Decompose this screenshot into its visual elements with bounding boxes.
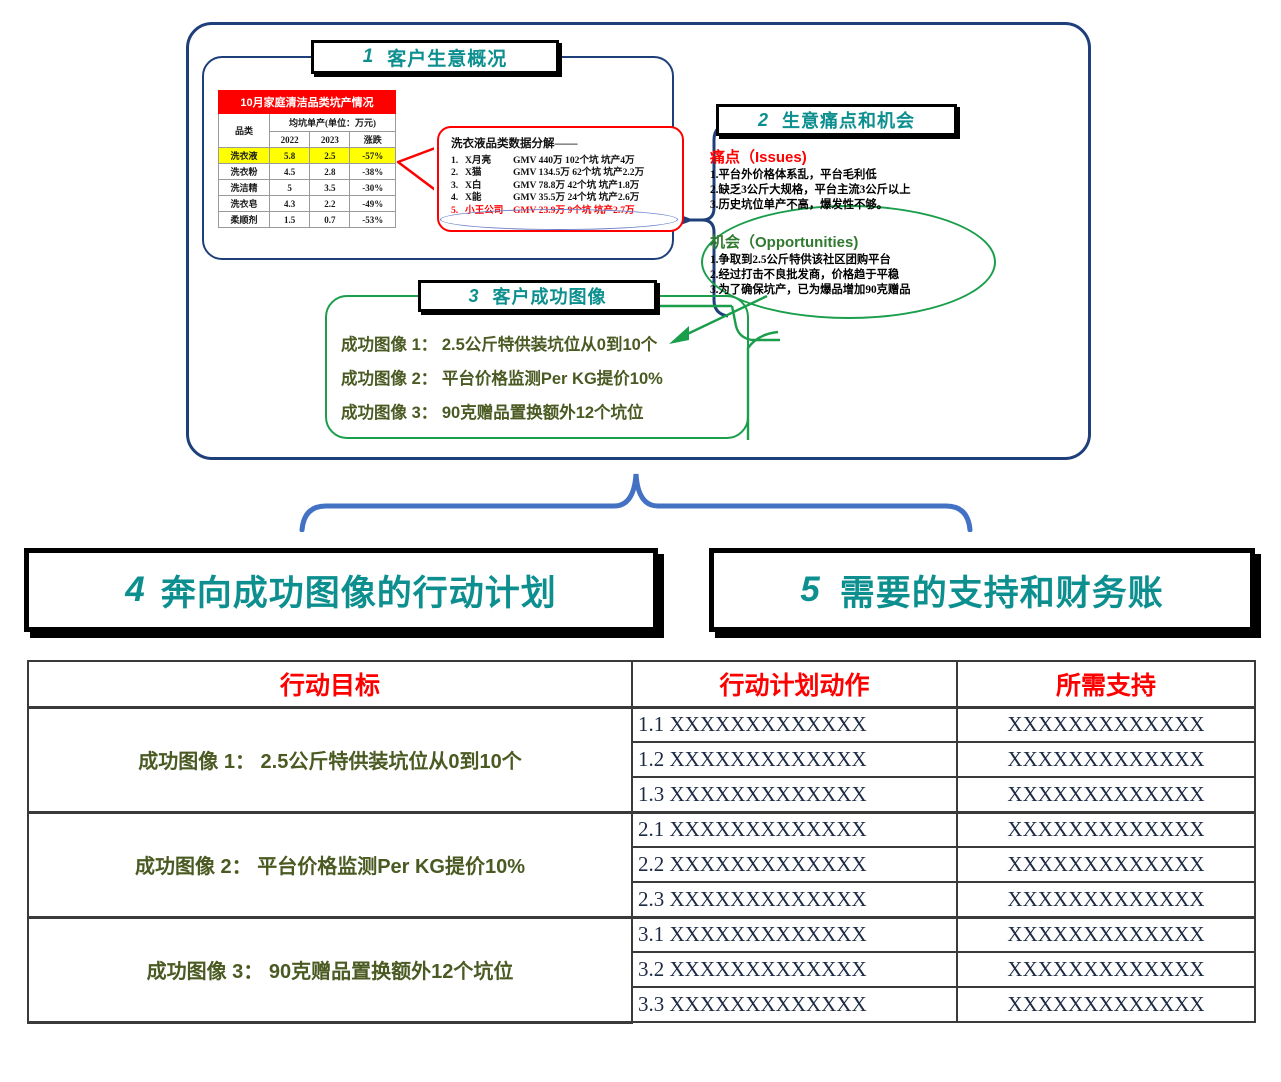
action-cell: 1.2 XXXXXXXXXXXXX xyxy=(632,742,957,777)
item-index: 3. xyxy=(451,180,465,192)
mini-table-category-header: 品类 xyxy=(219,114,270,148)
table-row: 柔顺剂 1.5 0.7 -53% xyxy=(219,212,396,228)
header-support: 所需支持 xyxy=(957,661,1255,707)
item-name: X白 xyxy=(465,180,513,192)
success-image-item: 成功图像 2： 平台价格监测Per KG提价10% xyxy=(341,362,745,396)
support-cell: XXXXXXXXXXXXX xyxy=(957,847,1255,882)
row-2023: 0.7 xyxy=(310,212,350,228)
row-2022: 1.5 xyxy=(270,212,310,228)
mini-table-subheader-row: 品类 均坑单产(单位：万元) xyxy=(219,114,396,132)
slide-canvas: 1 客户生意概况 10月家庭清洁品类坑产情况 品类 均坑单产(单位：万元) 20… xyxy=(0,0,1281,1082)
opportunities-line: 1.争取到2.5公斤特供该社区团购平台 xyxy=(710,253,995,268)
section-4-number: 4 xyxy=(125,570,144,610)
success-image-item: 成功图像 1： 2.5公斤特供装坑位从0到10个 xyxy=(341,328,745,362)
list-item: 4.X能GMV 35.5万 24个坑 坑产2.6万 xyxy=(451,192,682,204)
row-2023: 2.8 xyxy=(310,164,350,180)
support-cell: XXXXXXXXXXXXX xyxy=(957,777,1255,812)
table-row: 洗洁精 5 3.5 -30% xyxy=(219,180,396,196)
item-name: X猫 xyxy=(465,167,513,179)
section-1-header: 1 客户生意概况 xyxy=(311,40,559,74)
section-3-header: 3 客户成功图像 xyxy=(418,280,657,312)
header-action: 行动计划动作 xyxy=(632,661,957,707)
section-3-number: 3 xyxy=(468,286,478,307)
item-index: 2. xyxy=(451,167,465,179)
row-2022: 4.3 xyxy=(270,196,310,212)
support-cell: XXXXXXXXXXXXX xyxy=(957,952,1255,987)
action-plan-table: 行动目标 行动计划动作 所需支持 成功图像 1： 2.5公斤特供装坑位从0到10… xyxy=(27,660,1256,1024)
callout-item-list: 1.X月亮GMV 440万 102个坑 坑产4万 2.X猫GMV 134.5万 … xyxy=(439,155,682,217)
action-cell: 1.3 XXXXXXXXXXXXX xyxy=(632,777,957,812)
row-2022: 4.5 xyxy=(270,164,310,180)
table-row: 洗衣粉 4.5 2.8 -38% xyxy=(219,164,396,180)
item-name: X月亮 xyxy=(465,155,513,167)
action-cell: 3.1 XXXXXXXXXXXXX xyxy=(632,917,957,952)
category-performance-table: 10月家庭清洁品类坑产情况 品类 均坑单产(单位：万元) 2022 2023 涨… xyxy=(218,90,396,228)
section-4-header: 4 奔向成功图像的行动计划 xyxy=(24,548,658,632)
list-item: 1.X月亮GMV 440万 102个坑 坑产4万 xyxy=(451,155,682,167)
section-5-title: 需要的支持和财务账 xyxy=(840,565,1164,616)
list-item: 2.X猫GMV 134.5万 62个坑 坑产2.2万 xyxy=(451,167,682,179)
item-index: 1. xyxy=(451,155,465,167)
goal-cell: 成功图像 1： 2.5公斤特供装坑位从0到10个 xyxy=(28,707,632,812)
item-index: 4. xyxy=(451,192,465,204)
section-2-number: 2 xyxy=(758,110,768,131)
blue-brace-connector-icon xyxy=(296,468,976,532)
section-2-title: 生意痛点和机会 xyxy=(782,107,915,133)
goal-cell: 成功图像 2： 平台价格监测Per KG提价10% xyxy=(28,812,632,917)
issues-line: 3.历史坑位单产不高，爆发性不够。 xyxy=(710,198,990,213)
table-row: 洗衣液 5.8 2.5 -57% xyxy=(219,148,396,164)
section-5-number: 5 xyxy=(800,570,819,610)
list-item: 3.X白GMV 78.8万 42个坑 坑产1.8万 xyxy=(451,180,682,192)
section-4-title: 奔向成功图像的行动计划 xyxy=(161,565,557,616)
row-category: 洗洁精 xyxy=(219,180,270,196)
goal-cell: 成功图像 3： 90克赠品置换额外12个坑位 xyxy=(28,917,632,1022)
mini-table-unit-header: 均坑单产(单位：万元) xyxy=(270,114,396,132)
support-cell: XXXXXXXXXXXXX xyxy=(957,742,1255,777)
row-category: 洗衣皂 xyxy=(219,196,270,212)
row-category: 洗衣粉 xyxy=(219,164,270,180)
callout-title: 洗衣液品类数据分解—— xyxy=(451,135,682,151)
highlight-ellipse xyxy=(440,209,678,230)
support-cell: XXXXXXXXXXXXX xyxy=(957,812,1255,847)
support-cell: XXXXXXXXXXXXX xyxy=(957,882,1255,917)
success-image-item: 成功图像 3： 90克赠品置换额外12个坑位 xyxy=(341,396,745,430)
action-cell: 2.2 XXXXXXXXXXXXX xyxy=(632,847,957,882)
section-2-header: 2 生意痛点和机会 xyxy=(716,104,957,136)
support-cell: XXXXXXXXXXXXX xyxy=(957,987,1255,1022)
issues-heading: 痛点（Issues) xyxy=(710,146,990,167)
row-2023: 3.5 xyxy=(310,180,350,196)
row-2023: 2.5 xyxy=(310,148,350,164)
issues-line: 2.缺乏3公斤大规格，平台主流3公斤以上 xyxy=(710,183,990,198)
action-plan-table-body: 成功图像 1： 2.5公斤特供装坑位从0到10个 1.1 XXXXXXXXXXX… xyxy=(28,707,1255,1022)
mini-table-title-row: 10月家庭清洁品类坑产情况 xyxy=(219,91,396,114)
item-detail: GMV 35.5万 24个坑 坑产2.6万 xyxy=(513,192,639,203)
header-goal: 行动目标 xyxy=(28,661,632,707)
row-2023: 2.2 xyxy=(310,196,350,212)
support-cell: XXXXXXXXXXXXX xyxy=(957,707,1255,742)
action-cell: 2.3 XXXXXXXXXXXXX xyxy=(632,882,957,917)
mini-table-title: 10月家庭清洁品类坑产情况 xyxy=(219,91,396,114)
action-cell: 2.1 XXXXXXXXXXXXX xyxy=(632,812,957,847)
section-3-title: 客户成功图像 xyxy=(493,283,607,309)
item-detail: GMV 440万 102个坑 坑产4万 xyxy=(513,155,635,166)
table-row: 成功图像 1： 2.5公斤特供装坑位从0到10个 1.1 XXXXXXXXXXX… xyxy=(28,707,1255,742)
table-row: 成功图像 3： 90克赠品置换额外12个坑位 3.1 XXXXXXXXXXXXX… xyxy=(28,917,1255,952)
success-images-list: 成功图像 1： 2.5公斤特供装坑位从0到10个 成功图像 2： 平台价格监测P… xyxy=(341,328,745,430)
item-name: X能 xyxy=(465,192,513,204)
action-cell: 1.1 XXXXXXXXXXXXX xyxy=(632,707,957,742)
mini-table-col-2022: 2022 xyxy=(270,132,310,148)
section-1-title: 客户生意概况 xyxy=(387,44,507,71)
issues-block: 痛点（Issues) 1.平台外价格体系乱，平台毛利低 2.缺乏3公斤大规格，平… xyxy=(710,146,990,214)
row-category: 柔顺剂 xyxy=(219,212,270,228)
item-detail: GMV 78.8万 42个坑 坑产1.8万 xyxy=(513,180,639,191)
support-cell: XXXXXXXXXXXXX xyxy=(957,917,1255,952)
issues-line: 1.平台外价格体系乱，平台毛利低 xyxy=(710,168,990,183)
section-1-number: 1 xyxy=(363,46,374,68)
item-detail: GMV 134.5万 62个坑 坑产2.2万 xyxy=(513,167,644,178)
opportunities-heading: 机会（Opportunities) xyxy=(710,231,995,252)
table-row: 洗衣皂 4.3 2.2 -49% xyxy=(219,196,396,212)
row-2022: 5.8 xyxy=(270,148,310,164)
action-cell: 3.2 XXXXXXXXXXXXX xyxy=(632,952,957,987)
row-2022: 5 xyxy=(270,180,310,196)
action-plan-table-head: 行动目标 行动计划动作 所需支持 xyxy=(28,661,1255,707)
category-performance-table-body: 10月家庭清洁品类坑产情况 品类 均坑单产(单位：万元) 2022 2023 涨… xyxy=(219,91,396,228)
action-cell: 3.3 XXXXXXXXXXXXX xyxy=(632,987,957,1022)
table-row: 成功图像 2： 平台价格监测Per KG提价10% 2.1 XXXXXXXXXX… xyxy=(28,812,1255,847)
section-5-header: 5 需要的支持和财务账 xyxy=(709,548,1255,632)
row-change: -53% xyxy=(350,212,396,228)
table-header-row: 行动目标 行动计划动作 所需支持 xyxy=(28,661,1255,707)
row-category: 洗衣液 xyxy=(219,148,270,164)
mini-table-col-2023: 2023 xyxy=(310,132,350,148)
